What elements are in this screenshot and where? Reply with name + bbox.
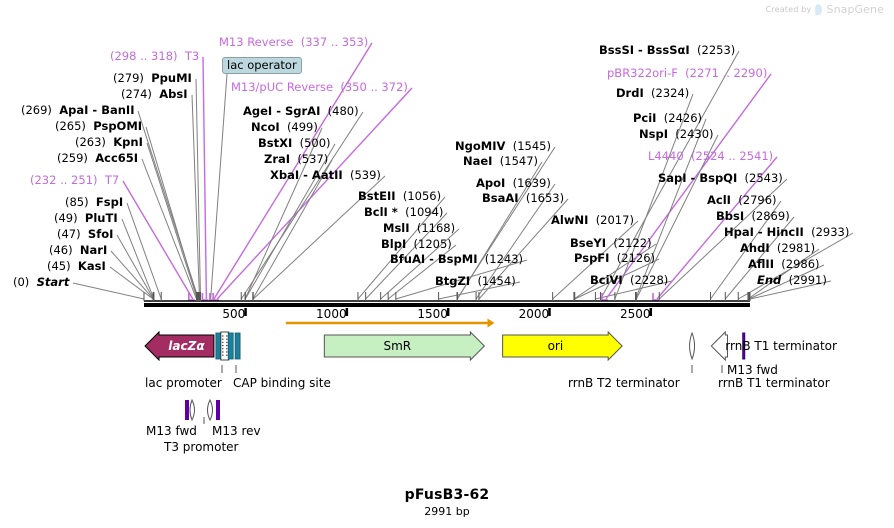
cap-binding-site-label[interactable]: CAP binding site: [233, 376, 331, 390]
feature-label-smr: SmR: [324, 339, 470, 353]
t3-promoter-label[interactable]: T3 promoter: [164, 440, 238, 454]
feature-label-lacz-alpha: lacZα: [159, 339, 214, 353]
rrnb-t2-label[interactable]: rrnB T2 terminator: [568, 376, 680, 390]
m13-rev-lower-label[interactable]: M13 rev: [212, 424, 261, 438]
plasmid-size: 2991 bp: [0, 505, 894, 518]
ruler-label-2500: 2500: [617, 307, 651, 321]
m13-fwd-right-label[interactable]: M13 fwd: [727, 363, 778, 377]
map-overlay-layer: 5001000150020002500lacZαSmRorirrnB T1 te…: [0, 0, 894, 528]
ruler-label-1500: 1500: [414, 307, 448, 321]
m13-fwd-lower-label[interactable]: M13 fwd: [146, 424, 197, 438]
feature-label-rrnb-t1-terminator: rrnB T1 terminator: [725, 339, 727, 353]
ruler-label-500: 500: [211, 307, 245, 321]
ruler-label-1000: 1000: [313, 307, 347, 321]
plasmid-title: pFusB3-62: [0, 487, 894, 503]
rrnb-t1-label[interactable]: rrnB T1 terminator: [718, 376, 830, 390]
ruler-label-2000: 2000: [515, 307, 549, 321]
feature-label-ori: ori: [503, 339, 609, 353]
lac-promoter-label[interactable]: lac promoter: [145, 376, 222, 390]
